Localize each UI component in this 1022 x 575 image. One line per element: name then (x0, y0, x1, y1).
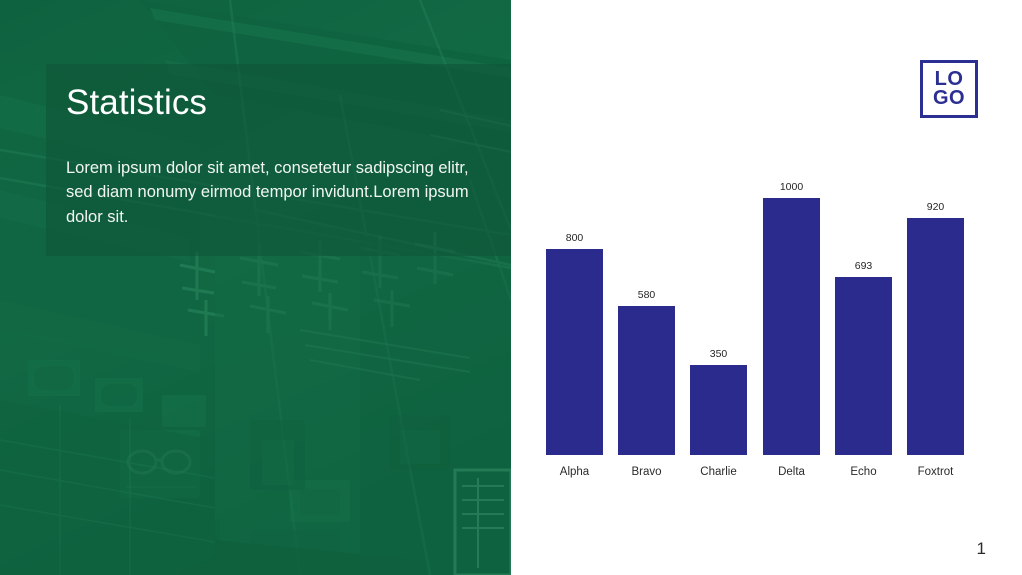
bar-category-label: Bravo (612, 466, 681, 478)
page-number: 1 (977, 539, 986, 559)
bar-category-label: Delta (757, 466, 826, 478)
bar[interactable] (690, 365, 747, 455)
logo: LO GO (920, 60, 978, 118)
bar-value-label: 800 (546, 232, 603, 244)
bar[interactable] (835, 277, 892, 455)
bar-value-label: 580 (618, 289, 675, 301)
bar[interactable] (618, 306, 675, 455)
bar[interactable] (907, 218, 964, 455)
photo-panel: Statistics Lorem ipsum dolor sit amet, c… (0, 0, 511, 575)
bar[interactable] (763, 198, 820, 455)
bar-category-label: Alpha (540, 466, 609, 478)
bar-group: 920Foxtrot (907, 180, 964, 484)
bar-value-label: 693 (835, 260, 892, 272)
bar[interactable] (546, 249, 603, 455)
page-title: Statistics (66, 84, 496, 123)
bar-group: 580Bravo (618, 180, 675, 484)
bar-group: 800Alpha (546, 180, 603, 484)
bar-chart: 800Alpha580Bravo350Charlie1000Delta693Ec… (520, 150, 990, 520)
bar-value-label: 1000 (763, 181, 820, 193)
bar-group: 693Echo (835, 180, 892, 484)
slide: Statistics Lorem ipsum dolor sit amet, c… (0, 0, 1022, 575)
bar-value-label: 920 (907, 201, 964, 213)
bar-category-label: Echo (829, 466, 898, 478)
bar-group: 350Charlie (690, 180, 747, 484)
page-subtitle: Lorem ipsum dolor sit amet, consetetur s… (66, 156, 494, 229)
bar-chart-plot-area: 800Alpha580Bravo350Charlie1000Delta693Ec… (546, 180, 964, 484)
bar-category-label: Foxtrot (901, 466, 970, 478)
bar-category-label: Charlie (684, 466, 753, 478)
bar-group: 1000Delta (763, 180, 820, 484)
bar-value-label: 350 (690, 348, 747, 360)
logo-line-2: GO (933, 89, 965, 108)
